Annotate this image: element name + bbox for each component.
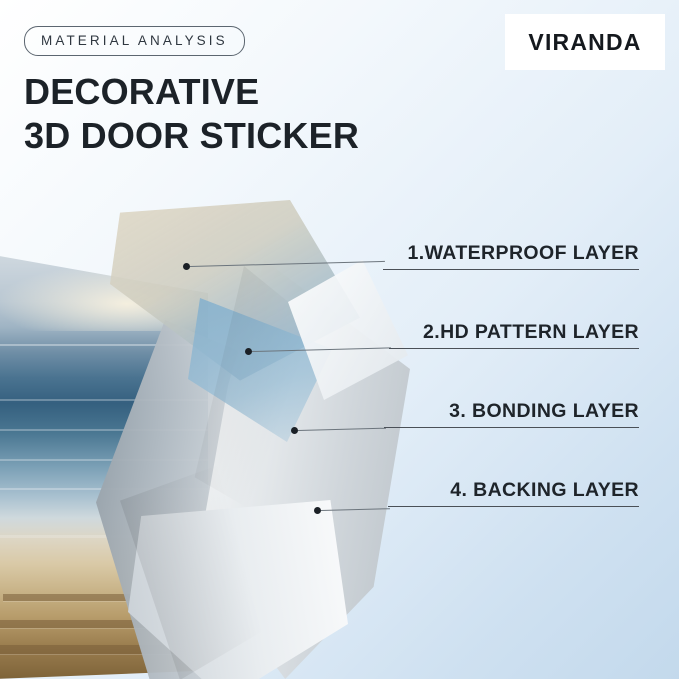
page-title: DECORATIVE 3D DOOR STICKER bbox=[24, 70, 359, 158]
callout-label-hd-pattern-layer: 2.HD PATTERN LAYER bbox=[389, 321, 639, 349]
callout-label-bonding-layer: 3. BONDING LAYER bbox=[384, 400, 639, 428]
eyebrow-badge: MATERIAL ANALYSIS bbox=[24, 26, 245, 56]
callout-dot-1 bbox=[183, 263, 190, 270]
callout-dot-4 bbox=[314, 507, 321, 514]
title-line-1: DECORATIVE bbox=[24, 71, 259, 112]
poster-canvas: MATERIAL ANALYSIS DECORATIVE 3D DOOR STI… bbox=[0, 0, 679, 679]
callout-label-waterproof-layer: 1.WATERPROOF LAYER bbox=[383, 242, 639, 270]
brand-logo-box: VIRANDA bbox=[505, 14, 665, 70]
callout-dot-3 bbox=[291, 427, 298, 434]
title-line-2: 3D DOOR STICKER bbox=[24, 114, 359, 158]
brand-name: VIRANDA bbox=[528, 29, 641, 56]
callout-label-backing-layer: 4. BACKING LAYER bbox=[388, 479, 639, 507]
sticker-illustration bbox=[0, 200, 420, 679]
callout-dot-2 bbox=[245, 348, 252, 355]
